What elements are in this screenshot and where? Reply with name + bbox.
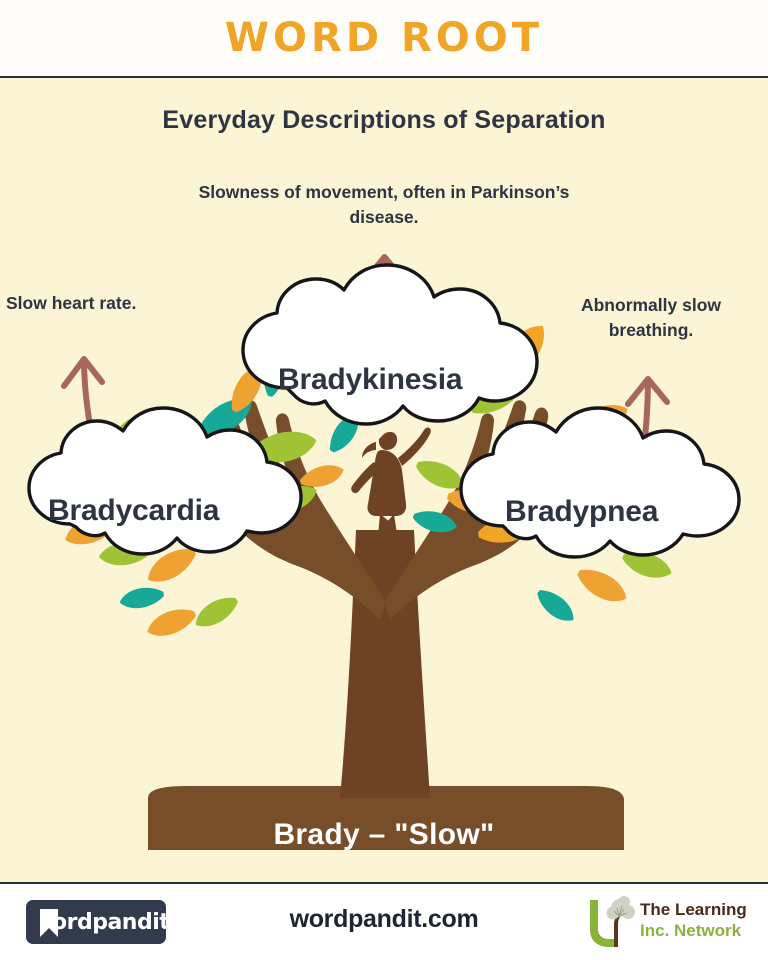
tree-u-icon	[584, 894, 638, 950]
partner-line2: Inc. Network	[640, 920, 747, 941]
the-learning-network-logo[interactable]: The Learning Inc. Network	[584, 894, 752, 950]
root-word-label: Brady – "Slow"	[0, 818, 768, 852]
the-learning-network-text: The Learning Inc. Network	[640, 899, 747, 942]
cloud-label-bradykinesia: Bradykinesia	[278, 363, 462, 397]
infographic-poster: WORD ROOT Everyday Descriptions of Separ…	[0, 0, 768, 960]
cloud-top	[243, 265, 537, 424]
partner-line1: The Learning	[640, 899, 747, 920]
cloud-left	[29, 408, 301, 554]
cloud-shapes	[0, 0, 768, 960]
footer-band: ordpandit wordpandit.com The Learning	[0, 882, 768, 960]
cloud-label-bradycardia: Bradycardia	[48, 494, 219, 528]
cloud-label-bradypnea: Bradypnea	[505, 495, 658, 529]
cloud-right	[461, 408, 739, 557]
